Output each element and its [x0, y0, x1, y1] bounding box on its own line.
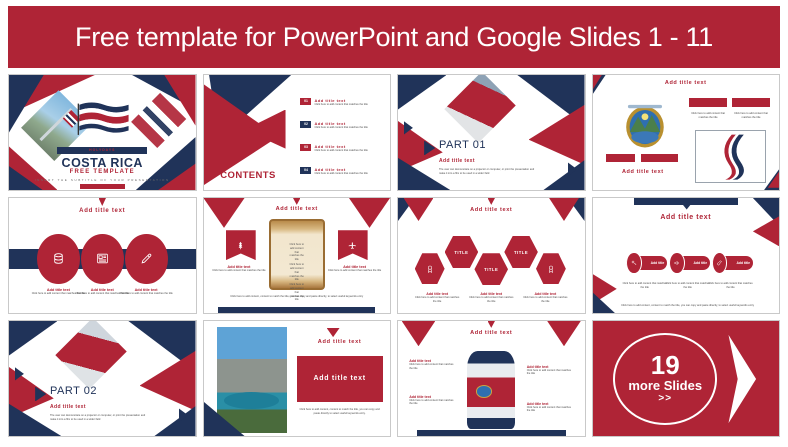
airplane-icon [348, 241, 357, 250]
image-costa-rica-waving-flag [76, 98, 132, 139]
scroll-line-2: Click here to add content that matches t… [289, 263, 304, 282]
pills-heading: Add title text [626, 214, 745, 221]
circle-1[interactable] [37, 234, 80, 285]
page-title: Free template for PowerPoint and Google … [75, 22, 713, 53]
part-02-body: The user can demonstrate on a projector … [50, 414, 147, 422]
photo-text-desc: Click here to add content, content to ma… [297, 408, 383, 416]
slide-thumbnail-fist[interactable]: Add title text Add title text Click here… [397, 320, 586, 437]
hexagon-label-4: TITLE [514, 250, 528, 255]
photo-text-box-title: Add title text [314, 375, 366, 382]
slide-thumbnail-cover[interactable]: HOLYDAYS COSTA RICA FREE TEMPLATE INSERT… [8, 74, 197, 191]
slides-grid: HOLYDAYS COSTA RICA FREE TEMPLATE INSERT… [8, 74, 780, 437]
award-ribbon-icon [547, 265, 555, 273]
corner-triangle-tl-navy [398, 75, 446, 110]
heading-marker-triangle [99, 198, 106, 206]
right-bar-2 [732, 98, 769, 107]
coat-of-arms-caption: Add title text [602, 169, 684, 175]
contents-item-1[interactable]: 01 Add title text Click here to add cont… [300, 98, 382, 107]
corner-triangle-tr-red [547, 321, 581, 346]
more-slides-label: more Slides [628, 378, 702, 394]
hexagon-label-2: TITLE [454, 250, 468, 255]
part-01-body: The user can demonstrate on a projector … [439, 168, 536, 176]
corner-triangle-tl-red [404, 198, 434, 221]
heading-marker-triangle [682, 204, 691, 210]
pencil-icon [140, 252, 153, 265]
pills-footer: Click here to add content, content to ma… [619, 304, 757, 308]
image-costa-rica-coat-of-arms [617, 98, 673, 151]
ribbon-left-desc: Click here to add content that matches t… [209, 269, 269, 273]
right-bar-1 [689, 98, 726, 107]
photo-text-heading: Add title text [297, 339, 383, 345]
pill-3[interactable]: Add title [712, 256, 753, 271]
more-slides-count: 19 [651, 353, 680, 378]
bottom-band [417, 430, 566, 436]
heading-marker-triangle [488, 321, 495, 328]
fist-heading: Add title text [435, 330, 547, 336]
circle-2[interactable] [81, 234, 124, 285]
pill-icon-wrap-1 [626, 252, 642, 274]
hexagon-caption-desc-2: Click here to add content that matches t… [467, 296, 515, 304]
pill-icon-wrap-3 [712, 252, 728, 274]
scroll-line-3: Click here to add content that matches t… [289, 283, 304, 302]
cover-kicker: HOLYDAYS [57, 148, 147, 152]
hexagon-2[interactable]: TITLE [445, 236, 479, 268]
part-01-heading: PART 01 [439, 139, 486, 151]
scroll-line-1: Click here to add content that matches t… [289, 243, 304, 262]
scroll-footer: Click here to add content, content to ma… [218, 295, 375, 299]
right-desc-2: Click here to add content that matches t… [732, 112, 769, 120]
part-02-heading: PART 02 [50, 385, 97, 397]
contents-heading: CONTENTS [220, 170, 275, 181]
more-slides-chevron: >> [658, 393, 672, 404]
contents-item-number-3: 03 [300, 144, 311, 151]
tree-icon [236, 241, 245, 250]
contents-item-desc-1: Click here to add content that matches t… [314, 103, 382, 107]
pill-2[interactable]: Add title [669, 256, 710, 271]
photo-text-box[interactable]: Add title text [297, 356, 383, 402]
slide-thumbnail-more-slides[interactable]: 19 more Slides >> [592, 320, 781, 437]
hexagon-5[interactable] [536, 253, 566, 284]
award-ribbon-icon [426, 265, 434, 273]
contents-item-number-1: 01 [300, 98, 311, 105]
three-circles-heading: Add title text [43, 208, 162, 214]
pill-label-3: Add title [736, 261, 750, 265]
right-desc-1: Click here to add content that matches t… [689, 112, 726, 120]
fist-callout-desc-2: Click here to add content that matches t… [527, 369, 575, 377]
image-costa-rica-flag-diamond [130, 93, 186, 149]
ribbon-right-desc: Click here to add content that matches t… [325, 269, 385, 273]
slide-thumbnail-part-02[interactable]: PART 02 Add title text The user can demo… [8, 320, 197, 437]
hexagon-heading: Add title text [435, 207, 547, 213]
chevron-right-icon[interactable] [719, 333, 764, 425]
heading-marker-triangle [488, 198, 495, 205]
cover-tagline: INSERT THE SUBTITLE OF YOUR PRESENTATION [16, 178, 188, 182]
corner-triangle-tr-red [529, 105, 585, 165]
cover-button[interactable]: Add text [80, 184, 125, 189]
heading-marker-triangle [293, 198, 300, 205]
fist-callout-2: Add title text Click here to add content… [527, 365, 575, 377]
newspaper-icon [96, 252, 109, 265]
coat-of-arms-bar-1 [606, 154, 636, 162]
database-icon [52, 252, 65, 265]
pill-1[interactable]: Add title [626, 256, 667, 271]
template-gallery-page: Free template for PowerPoint and Google … [8, 6, 780, 437]
contents-item-3[interactable]: 03 Add title text Click here to add cont… [300, 144, 382, 153]
cover-subtitle: FREE TEMPLATE [16, 169, 188, 175]
contents-item-desc-2: Click here to add content that matches t… [314, 126, 382, 130]
corner-triangle-tr-red [349, 198, 390, 228]
scroll-heading: Add title text [241, 206, 353, 212]
fist-callout-4: Add title text Click here to add content… [527, 402, 575, 414]
contents-item-number-4: 04 [300, 167, 311, 174]
corner-triangle-tr-red [140, 351, 196, 411]
page-header-banner: Free template for PowerPoint and Google … [8, 6, 780, 68]
circle-caption-3: Add title text Click here to add content… [119, 288, 173, 296]
hexagon-caption-1: Add title text Click here to add content… [413, 292, 461, 304]
fist-callout-desc-4: Click here to add content that matches t… [527, 406, 575, 414]
hexagon-1[interactable] [415, 253, 445, 284]
hexagon-caption-desc-3: Click here to add content that matches t… [521, 296, 569, 304]
slides-row-1: HOLYDAYS COSTA RICA FREE TEMPLATE INSERT… [8, 74, 780, 191]
contents-item-desc-3: Click here to add content that matches t… [314, 149, 382, 153]
corner-triangle-tl-navy [9, 321, 57, 356]
hexagon-4[interactable]: TITLE [504, 236, 538, 268]
key-icon [631, 260, 637, 266]
slide-thumbnail-three-circles[interactable]: Add title text [8, 197, 197, 314]
fist-callout-desc-3: Click here to add content that matches t… [409, 399, 457, 407]
contents-item-2[interactable]: 02 Add title text Click here to add cont… [300, 121, 382, 130]
hexagon-caption-desc-1: Click here to add content that matches t… [413, 296, 461, 304]
ribbon-left[interactable] [226, 230, 256, 260]
corner-triangle-tl-red [204, 198, 245, 228]
hexagon-3[interactable]: TITLE [474, 253, 508, 285]
pill-label-1: Add title [651, 261, 665, 265]
pill-desc-2: Click here to add content that matches t… [665, 282, 710, 290]
corner-triangle-tl-red [402, 321, 436, 346]
image-costa-rica-flag-painted-fist [467, 351, 515, 429]
part-02-subheading: Add title text [50, 404, 86, 410]
cover-title: COSTA RICA [16, 156, 188, 170]
slides-row-3: PART 02 Add title text The user can demo… [8, 320, 780, 437]
brush-icon [717, 260, 723, 266]
fist-callout-desc-1: Click here to add content that matches t… [409, 363, 457, 371]
corner-triangle-br-navy [154, 406, 195, 436]
bottom-band [218, 307, 375, 313]
pill-desc-3: Click here to add content that matches t… [708, 282, 753, 290]
circle-desc-3: Click here to add content that matches t… [119, 292, 173, 296]
circle-3[interactable] [125, 234, 168, 285]
image-irazu-volcano-crater-lake [217, 327, 288, 433]
corner-triangle-tr-red [549, 198, 579, 221]
image-vintage-scroll-parchment: Click here to add content that matches t… [269, 219, 325, 290]
heading-marker-triangle [327, 328, 340, 337]
hexagon-caption-2: Add title text Click here to add content… [467, 292, 515, 304]
slides-row-2: Add title text [8, 197, 780, 314]
corner-triangle-br-navy [543, 160, 584, 190]
image-costa-rica-flag-ribbon [704, 133, 756, 181]
slide-thumbnail-hexagons[interactable]: Add title text TITLE TITLE TITLE [397, 197, 586, 314]
pill-desc-1: Click here to add content that matches t… [622, 282, 667, 290]
contents-item-desc-4: Click here to add content that matches t… [314, 172, 382, 176]
slide-thumbnail-part-01[interactable]: PART 01 Add title text The user can demo… [397, 74, 586, 191]
slide-thumbnail-pills[interactable]: Add title text Add title [592, 197, 781, 314]
pill-icon-wrap-2 [669, 252, 685, 274]
hexagon-caption-3: Add title text Click here to add content… [521, 292, 569, 304]
contents-item-4[interactable]: 04 Add title text Click here to add cont… [300, 167, 382, 176]
slide-thumbnail-coat-of-arms[interactable]: Add title text Add title text [592, 74, 781, 191]
slide-thumbnail-contents[interactable]: CONTENTS 01 Add title text Click here to… [203, 74, 392, 191]
ribbon-left-caption: Add title text Click here to add content… [209, 265, 269, 273]
contents-item-number-2: 02 [300, 121, 311, 128]
slide-thumbnail-scroll[interactable]: Add title text Click here to add conte [203, 197, 392, 314]
hexagon-label-3: TITLE [484, 267, 498, 272]
megaphone-icon [674, 260, 680, 266]
fist-callout-1: Add title text Click here to add content… [409, 359, 457, 371]
coat-of-arms-heading: Add title text [626, 80, 745, 86]
image-costa-rica-flag-diamond-photo [55, 320, 127, 389]
corner-triangle-r-red [753, 216, 779, 246]
slide-thumbnail-photo-text[interactable]: Add title text Add title text Click here… [203, 320, 392, 437]
ribbon-right[interactable] [338, 230, 368, 260]
coat-of-arms-bar-2 [641, 154, 678, 162]
fist-callout-3: Add title text Click here to add content… [409, 395, 457, 407]
image-costa-rica-flag-heart-diamond [444, 74, 516, 143]
more-slides-ring[interactable]: 19 more Slides >> [613, 333, 717, 425]
part-01-subheading: Add title text [439, 158, 475, 164]
ribbon-right-caption: Add title text Click here to add content… [325, 265, 385, 273]
pill-label-2: Add title [694, 261, 708, 265]
